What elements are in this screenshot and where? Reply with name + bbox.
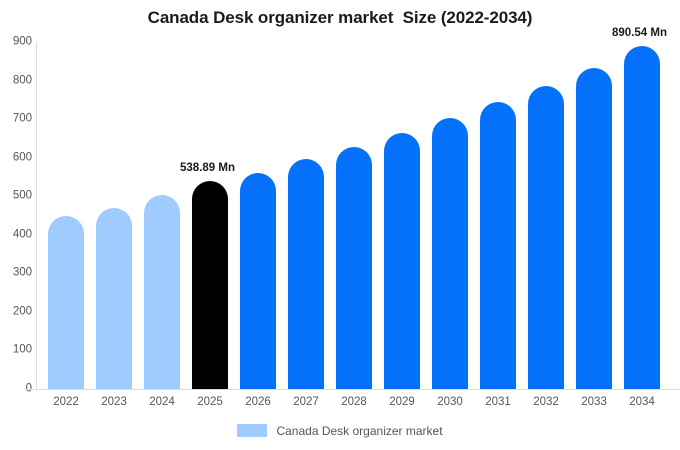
bar-2023[interactable] [96,208,132,389]
legend-swatch-icon [237,424,267,437]
y-axis: 9008007006005004003002001000 [0,0,32,450]
bar-2034[interactable] [624,46,660,389]
y-axis-tick-label: 400 [2,229,32,241]
value-label-2025: 538.89 Mn [180,163,235,175]
bar-2022[interactable] [48,216,84,389]
x-axis-tick-label-2030: 2030 [432,396,468,410]
x-axis-tick-label-2034: 2034 [624,396,660,410]
value-label-2034: 890.54 Mn [612,28,667,40]
x-axis-tick-label-2023: 2023 [96,396,132,410]
y-axis-tick-label: 900 [2,36,32,48]
x-axis-tick-label-2032: 2032 [528,396,564,410]
bar-2027[interactable] [288,159,324,389]
x-axis-tick-label-2031: 2031 [480,396,516,410]
y-axis-tick-label: 100 [2,345,32,357]
legend-label: Canada Desk organizer market [276,425,442,437]
y-axis-tick-label: 700 [2,113,32,125]
y-axis-tick-label: 600 [2,152,32,164]
bar-2032[interactable] [528,86,564,389]
y-axis-tick-label: 500 [2,190,32,202]
chart-legend: Canada Desk organizer market [0,424,680,437]
bar-2025[interactable] [192,181,228,389]
x-axis-tick-label-2029: 2029 [384,396,420,410]
x-axis-tick-label-2033: 2033 [576,396,612,410]
x-axis-tick-label-2024: 2024 [144,396,180,410]
x-axis-labels: 2022202320242025202620272028202920302031… [36,396,680,416]
bar-2026[interactable] [240,173,276,389]
legend-item[interactable]: Canada Desk organizer market [237,424,442,437]
bars-layer [36,42,680,389]
x-axis-line [24,389,680,390]
x-axis-tick-label-2028: 2028 [336,396,372,410]
chart-container: Canada Desk organizer market Size (2022-… [0,0,680,450]
bar-2033[interactable] [576,68,612,389]
x-axis-tick-label-2027: 2027 [288,396,324,410]
y-axis-tick-label: 800 [2,75,32,87]
bar-2030[interactable] [432,118,468,389]
x-axis-tick-label-2025: 2025 [192,396,228,410]
chart-title: Canada Desk organizer market Size (2022-… [0,8,680,28]
x-axis-tick-label-2022: 2022 [48,396,84,410]
bar-2028[interactable] [336,147,372,389]
y-axis-tick-label: 300 [2,268,32,280]
bar-2024[interactable] [144,195,180,389]
bar-2031[interactable] [480,102,516,389]
y-axis-tick-label: 200 [2,306,32,318]
bar-2029[interactable] [384,133,420,389]
x-axis-tick-label-2026: 2026 [240,396,276,410]
